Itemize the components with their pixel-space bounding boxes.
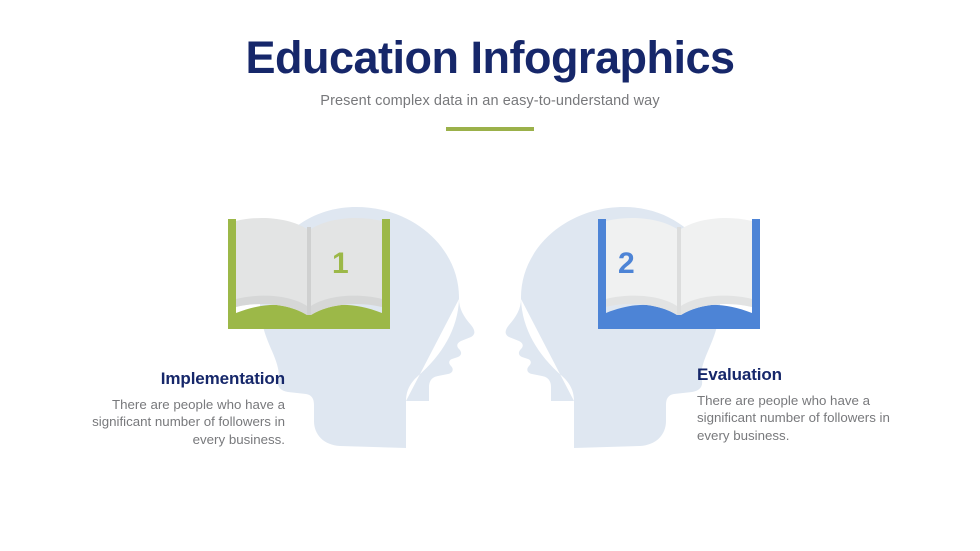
step-number: 1 — [332, 249, 349, 279]
step-panel-2[interactable]: 2 Evaluation There are people who have a… — [490, 205, 980, 495]
slide-canvas: Education Infographics Present complex d… — [0, 0, 980, 551]
step-body: There are people who have a significant … — [697, 392, 902, 445]
title-divider — [446, 127, 534, 131]
slide-header: Education Infographics Present complex d… — [0, 34, 980, 131]
step-panel-1[interactable]: 1 Implementation There are people who ha… — [0, 205, 490, 495]
step-body: There are people who have a significant … — [80, 396, 285, 449]
step-caption-2: Evaluation There are people who have a s… — [697, 365, 902, 444]
divider-wrapper — [0, 127, 980, 131]
open-book-icon — [226, 215, 392, 333]
page-subtitle: Present complex data in an easy-to-under… — [0, 93, 980, 110]
step-number: 2 — [618, 249, 635, 279]
step-caption-1: Implementation There are people who have… — [80, 369, 285, 448]
step-title: Evaluation — [697, 365, 902, 385]
step-title: Implementation — [80, 369, 285, 389]
page-title: Education Infographics — [0, 34, 980, 82]
